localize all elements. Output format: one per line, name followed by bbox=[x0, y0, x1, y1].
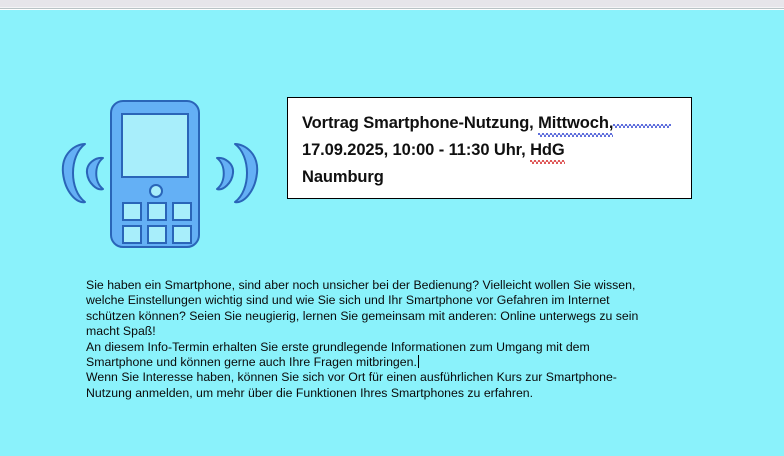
paragraph-2-line-1: An diesem Info-Termin erhalten Sie erste… bbox=[86, 340, 590, 354]
phone-key bbox=[122, 225, 142, 244]
text-cursor bbox=[418, 355, 419, 368]
window-top-strip bbox=[0, 0, 784, 9]
phone-key bbox=[147, 225, 167, 244]
phone-key bbox=[122, 202, 142, 221]
paragraph-3-line-1: Wenn Sie Interesse haben, können Sie sic… bbox=[86, 370, 617, 384]
title-text-box[interactable]: Vortrag Smartphone-Nutzung, Mittwoch, 17… bbox=[287, 97, 692, 199]
title-line-2-text: 17.09.2025, 10:00 - 11:30 Uhr, bbox=[302, 141, 530, 159]
title-line-1-misspelled-word: Mittwoch, bbox=[538, 110, 613, 137]
title-line-3: Naumburg bbox=[302, 164, 677, 191]
paragraph-2: An diesem Info-Termin erhalten Sie erste… bbox=[86, 340, 706, 371]
paragraph-3-line-2: Nutzung anmelden, um mehr über die Funkt… bbox=[86, 386, 533, 400]
paragraph-2-line-2: Smartphone und können gerne auch Ihre Fr… bbox=[86, 355, 417, 369]
top-strip-divider bbox=[0, 7, 784, 8]
signal-wave-left-icon bbox=[55, 138, 107, 208]
phone-body bbox=[110, 100, 200, 248]
phone-key bbox=[172, 225, 192, 244]
paragraph-1-line-4: macht Spaß! bbox=[86, 324, 156, 338]
phone-key bbox=[147, 202, 167, 221]
title-line-2-misspelled-word: HdG bbox=[530, 137, 565, 164]
phone-nav-button-icon bbox=[149, 184, 163, 198]
document-canvas[interactable]: Vortrag Smartphone-Nutzung, Mittwoch, 17… bbox=[0, 10, 784, 456]
title-line-1-text: Vortrag Smartphone-Nutzung, bbox=[302, 114, 538, 132]
title-line-1: Vortrag Smartphone-Nutzung, Mittwoch, bbox=[302, 110, 677, 137]
paragraph-1-line-1: Sie haben ein Smartphone, sind aber noch… bbox=[86, 278, 635, 292]
document-page: Vortrag Smartphone-Nutzung, Mittwoch, 17… bbox=[0, 0, 784, 456]
paragraph-1: Sie haben ein Smartphone, sind aber noch… bbox=[86, 278, 706, 340]
body-text-block[interactable]: Sie haben ein Smartphone, sind aber noch… bbox=[86, 278, 706, 401]
smartphone-illustration[interactable] bbox=[55, 92, 267, 264]
paragraph-1-line-2: welche Einstellungen wichtig sind und wi… bbox=[86, 293, 610, 307]
phone-key bbox=[172, 202, 192, 221]
title-line-2: 17.09.2025, 10:00 - 11:30 Uhr, HdG bbox=[302, 137, 677, 164]
phone-screen bbox=[121, 113, 189, 178]
phone-keypad bbox=[122, 202, 192, 244]
paragraph-1-line-3: schützen können? Seien Sie neugierig, le… bbox=[86, 309, 638, 323]
signal-wave-right-icon bbox=[213, 138, 265, 208]
paragraph-3: Wenn Sie Interesse haben, können Sie sic… bbox=[86, 370, 706, 401]
